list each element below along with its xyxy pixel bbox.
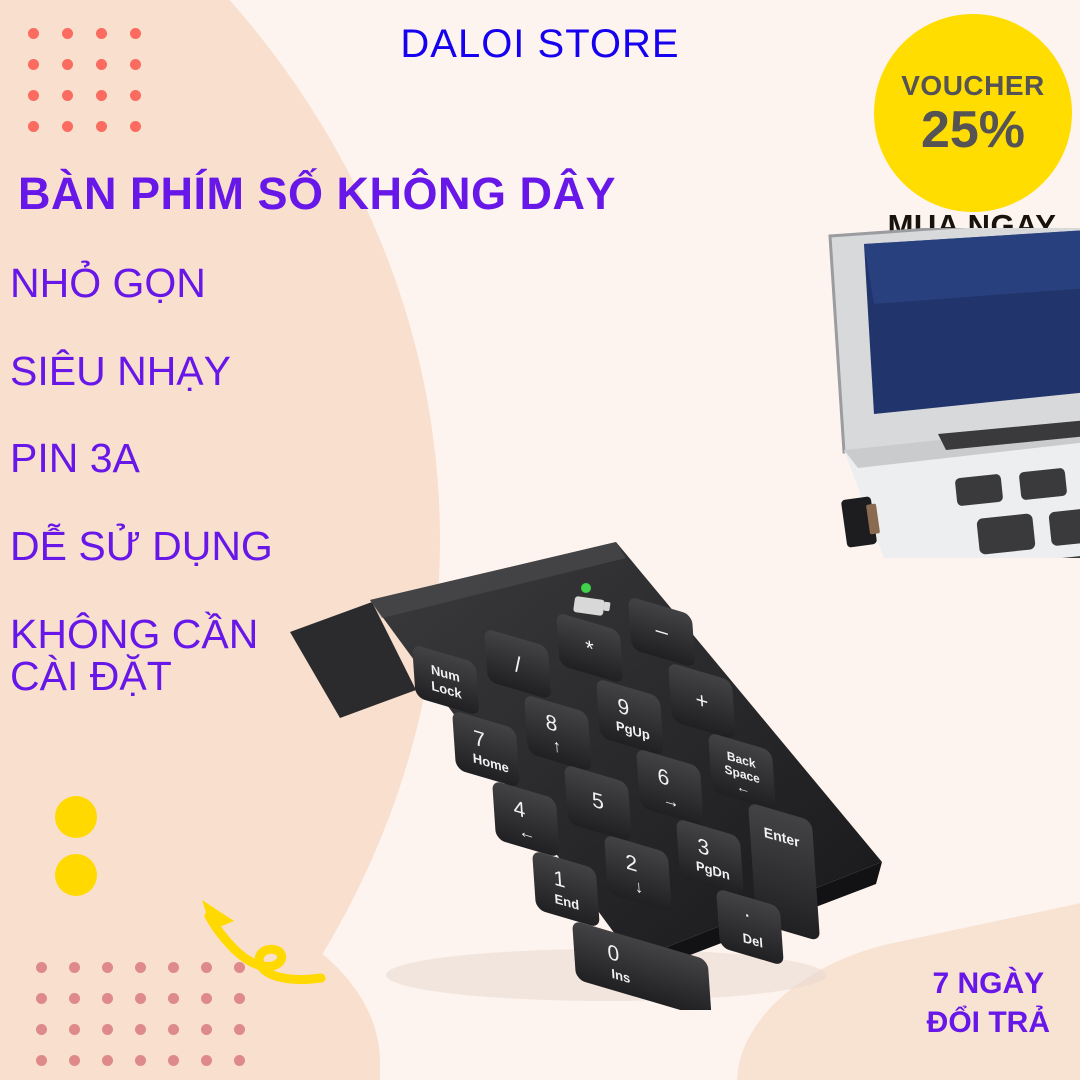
feature-item: SIÊU NHẠY	[10, 350, 370, 393]
svg-text:7: 7	[473, 725, 486, 753]
svg-text:6: 6	[657, 763, 670, 791]
voucher-label: VOUCHER	[901, 70, 1045, 102]
voucher-badge[interactable]: VOUCHER 25%	[874, 14, 1072, 212]
svg-text:0: 0	[607, 939, 620, 967]
svg-text:↑: ↑	[552, 735, 562, 757]
svg-text:5: 5	[591, 787, 604, 815]
feature-item: NHỎ GỌN	[10, 262, 370, 305]
return-policy-text: 7 NGÀY ĐỔI TRẢ	[927, 965, 1050, 1042]
svg-text:2: 2	[625, 849, 638, 877]
voucher-percent: 25%	[921, 104, 1025, 156]
yellow-circle-decor-2	[55, 854, 97, 896]
yellow-circle-decor-1	[55, 796, 97, 838]
laptop-lid	[830, 228, 1080, 452]
svg-text:–: –	[655, 616, 669, 645]
numeric-keypad-illustration: Num Lock / * – 7 Home	[286, 540, 886, 1010]
svg-text:9: 9	[617, 693, 630, 721]
svg-text:↓: ↓	[634, 875, 644, 897]
svg-text:8: 8	[545, 709, 558, 737]
svg-text:4: 4	[513, 795, 526, 823]
svg-text:3: 3	[697, 833, 710, 861]
svg-text:1: 1	[553, 865, 566, 893]
feature-item: PIN 3A	[10, 437, 370, 480]
advertisement-canvas: DALOI STORE VOUCHER 25% MUA NGAY BÀN PHÍ…	[0, 0, 1080, 1080]
page-title: BÀN PHÍM SỐ KHÔNG DÂY	[18, 168, 616, 220]
laptop-illustration	[788, 228, 1080, 558]
svg-text:+: +	[695, 686, 710, 716]
